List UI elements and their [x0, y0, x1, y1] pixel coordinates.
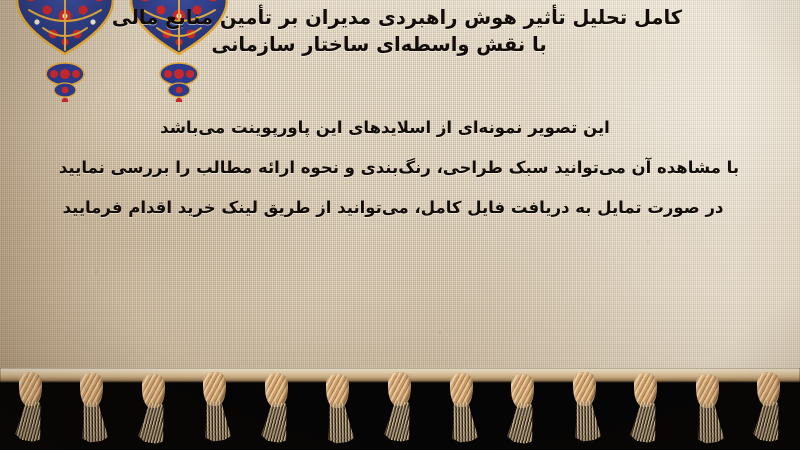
slide-body-line-2: با مشاهده آن می‌توانید سبک طراحی، رنگ‌بن…	[0, 148, 798, 188]
fringe-tassel	[192, 372, 238, 444]
fringe-tassel	[562, 372, 608, 444]
fringe-tassel	[69, 373, 115, 445]
fringe-tassel	[500, 374, 546, 446]
carpet-fringe-band	[0, 368, 800, 450]
fringe-tassel	[377, 372, 423, 444]
fringe-tassel	[8, 372, 54, 444]
slide-title: کامل تحلیل تأثیر هوش راهبردی مدیران بر ت…	[12, 4, 782, 58]
fringe-tassel	[623, 373, 669, 445]
tassel-knot	[326, 374, 349, 408]
slide-body-line-1: این تصویر نمونه‌ای از اسلایدهای این پاور…	[0, 108, 770, 148]
tassel-tail	[137, 401, 169, 445]
fringe-tassel	[439, 373, 485, 445]
tassel-tail	[752, 399, 784, 443]
tassel-tail	[447, 401, 478, 444]
fringe-tassel	[254, 373, 300, 445]
tassel-tail	[14, 399, 46, 443]
slide-title-line-1: کامل تحلیل تأثیر هوش راهبردی مدیران بر ت…	[12, 4, 782, 31]
tassel-tail	[570, 400, 601, 443]
fringe-tassel	[685, 374, 731, 446]
tassel-tail	[506, 401, 538, 445]
tassel-knot	[203, 372, 226, 406]
tassel-tail	[324, 402, 355, 445]
fringe-tassel	[746, 372, 792, 444]
tassel-tail	[629, 400, 661, 444]
slide-canvas: کامل تحلیل تأثیر هوش راهبردی مدیران بر ت…	[0, 0, 800, 450]
slide-body-line-3: در صورت تمایل به دریافت فایل کامل، می‌تو…	[0, 188, 786, 228]
tassel-tail	[78, 401, 109, 444]
fringe-tassel	[315, 374, 361, 446]
tassel-knot	[80, 373, 103, 407]
tassel-knot	[696, 374, 719, 408]
slide-body-text: این تصویر نمونه‌ای از اسلایدهای این پاور…	[0, 108, 800, 228]
tassel-knot	[573, 372, 596, 406]
tassel-tail	[260, 400, 292, 444]
tassel-knot	[450, 373, 473, 407]
tassel-tail	[693, 402, 724, 445]
tassel-tail	[383, 399, 415, 443]
tassel-tail	[201, 400, 232, 443]
fringe-tassel	[131, 374, 177, 446]
slide-title-line-2: با نقش واسطه‌ای ساختار سازمانی	[12, 31, 746, 58]
